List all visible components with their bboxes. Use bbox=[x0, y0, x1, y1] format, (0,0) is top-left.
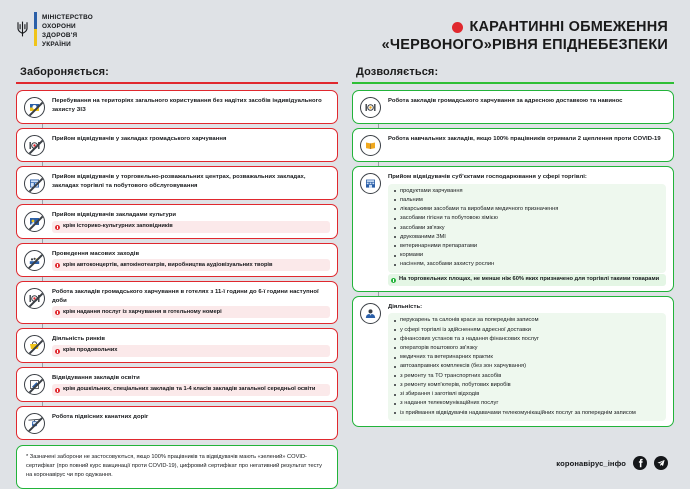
list-item-exception-text: крім надання послуг із харчування в готе… bbox=[63, 308, 222, 317]
culture-museum-prohibited-icon bbox=[24, 211, 45, 232]
list-item-title: Робота закладів громадського харчування … bbox=[52, 288, 330, 305]
bullet-item: лікарськими засобами та виробами медично… bbox=[394, 205, 661, 214]
telegram-icon[interactable] bbox=[654, 456, 668, 470]
bullet-item: операторів поштового зв'язку bbox=[394, 344, 661, 353]
list-item-exception-text: крім автоконцертів, автокінотеатрів, вир… bbox=[63, 261, 273, 270]
allowed-heading: Дозволяється: bbox=[352, 66, 674, 78]
market-prohibited-icon bbox=[24, 335, 45, 356]
bullet-item: засобами зв'язку bbox=[394, 224, 661, 233]
allowed-list: Робота закладів громадського харчування … bbox=[352, 90, 674, 427]
list-item-bullets: продуктами харчування пальним лікарським… bbox=[388, 184, 666, 273]
ministry-logo-line-1: МІНІСТЕРСТВО bbox=[42, 13, 93, 22]
page-title: КАРАНТИННІ ОБМЕЖЕННЯ «ЧЕРВОНОГО»РІВНЯ ЕП… bbox=[382, 12, 668, 54]
list-item-exception: крім дошкільних, спеціальних закладів та… bbox=[52, 384, 330, 396]
list-item-title: Прийом відвідувачів у закладах громадськ… bbox=[52, 135, 330, 144]
exception-dot-icon bbox=[55, 388, 60, 393]
bullet-item: кормами bbox=[394, 251, 661, 260]
bullet-item: друкованими ЗМІ bbox=[394, 233, 661, 242]
list-item-title: Прийом відвідувачів закладами культури bbox=[52, 211, 330, 220]
person-no-mask-prohibited-icon bbox=[24, 97, 45, 118]
bullet-item: зі збирання і заготівлі відходів bbox=[394, 390, 661, 399]
list-item[interactable]: Робота навчальних закладів, якщо 100% пр… bbox=[352, 128, 674, 162]
list-item-exception-text: крім історико-культурних заповідників bbox=[63, 222, 173, 231]
list-item[interactable]: Робота підвісних канатних доріг bbox=[16, 406, 338, 440]
prohibited-heading-rule bbox=[16, 82, 338, 84]
ministry-of-health-logo: МІНІСТЕРСТВО ОХОРОНИ ЗДОРОВ'Я УКРАЇНИ bbox=[16, 12, 93, 49]
exception-dot-icon bbox=[391, 278, 396, 283]
bullet-item: пальним bbox=[394, 196, 661, 205]
prohibited-list: Перебування на територіях загального кор… bbox=[16, 90, 338, 440]
exception-dot-icon bbox=[55, 225, 60, 230]
ministry-logo-line-2: ОХОРОНИ bbox=[42, 22, 93, 31]
list-item[interactable]: Робота закладів громадського харчування … bbox=[352, 90, 674, 124]
bullet-item: ветеринарними препаратами bbox=[394, 242, 661, 251]
ministry-logo-line-4: УКРАЇНИ bbox=[42, 40, 93, 49]
bullet-item: фінансових установ та з надання фінансов… bbox=[394, 335, 661, 344]
shopping-mall-prohibited-icon bbox=[24, 173, 45, 194]
list-item-exception: крім продовольчих bbox=[52, 345, 330, 357]
exception-dot-icon bbox=[55, 310, 60, 315]
bullet-item: продуктами харчування bbox=[394, 187, 661, 196]
bullet-item: із приймання відвідувачів надавачами тел… bbox=[394, 409, 661, 418]
list-item[interactable]: Діяльність ринків крім продовольчих bbox=[16, 328, 338, 363]
hotel-catering-prohibited-icon bbox=[24, 288, 45, 309]
retail-store-icon bbox=[360, 173, 381, 194]
ministry-logo-text: МІНІСТЕРСТВО ОХОРОНИ ЗДОРОВ'Я УКРАЇНИ bbox=[42, 12, 93, 49]
list-item[interactable]: Проведення масових заходів крім автоконц… bbox=[16, 243, 338, 278]
food-delivery-icon bbox=[360, 97, 381, 118]
list-item-exception-text: крім дошкільних, спеціальних закладів та… bbox=[63, 385, 315, 394]
bullet-item: перукарень та салонів краси за попередні… bbox=[394, 316, 661, 325]
bullet-item: у сфері торгівлі із здійсненням адресної… bbox=[394, 326, 661, 335]
bullet-item: насінням, засобами захисту рослин bbox=[394, 260, 661, 269]
prohibited-footnote-text: * Зазначені заборони не застосовуються, … bbox=[26, 453, 328, 481]
allowed-heading-rule bbox=[352, 82, 674, 84]
facebook-icon[interactable] bbox=[633, 456, 647, 470]
ukraine-trident-icon bbox=[16, 12, 29, 46]
education-prohibited-icon bbox=[24, 374, 45, 395]
list-item-title: Проведення масових заходів bbox=[52, 250, 330, 259]
list-item-exception: крім автоконцертів, автокінотеатрів, вир… bbox=[52, 259, 330, 271]
list-item-title: Прийом відвідувачів у торговельно-розваж… bbox=[52, 173, 330, 190]
list-item[interactable]: Діяльність: перукарень та салонів краси … bbox=[352, 296, 674, 427]
prohibited-column: Забороняється: Перебування на територіях… bbox=[16, 66, 338, 489]
bullet-item: автозаправних комплексів (без зон харчув… bbox=[394, 362, 661, 371]
list-item-title: Відвідування закладів освіти bbox=[52, 374, 330, 383]
list-item-title: Перебування на територіях загального кор… bbox=[52, 97, 330, 114]
bullet-item: медичних та ветеринарних практик bbox=[394, 353, 661, 362]
list-item-exception-text: На торговельних площах, не менше ніж 60%… bbox=[399, 275, 659, 284]
page-title-line-1: КАРАНТИННІ ОБМЕЖЕННЯ bbox=[469, 18, 668, 36]
page-title-line-2: «ЧЕРВОНОГО»РІВНЯ ЕПІДНЕБЕЗПЕКИ bbox=[382, 36, 668, 54]
social-links: коронавірус_інфо bbox=[556, 456, 668, 470]
prohibited-footnote: * Зазначені заборони не застосовуються, … bbox=[16, 445, 338, 489]
list-item-title: Діяльність ринків bbox=[52, 335, 330, 344]
bullet-item: з ремонту та ТО транспортних засобів bbox=[394, 372, 661, 381]
list-item[interactable]: Прийом відвідувачів у торговельно-розваж… bbox=[16, 166, 338, 200]
flag-bars bbox=[34, 12, 37, 46]
mass-event-prohibited-icon bbox=[24, 250, 45, 271]
exception-dot-icon bbox=[55, 263, 60, 268]
allowed-column: Дозволяється: Робота закладів громадсько… bbox=[352, 66, 674, 489]
page-header: МІНІСТЕРСТВО ОХОРОНИ ЗДОРОВ'Я УКРАЇНИ КА… bbox=[0, 0, 690, 62]
list-item[interactable]: Прийом відвідувачів суб'єктами господарю… bbox=[352, 166, 674, 292]
list-item-exception: крім історико-культурних заповідників bbox=[52, 221, 330, 233]
list-item-title: Робота підвісних канатних доріг bbox=[52, 413, 330, 422]
list-item-exception-text: крім продовольчих bbox=[63, 346, 117, 355]
cable-car-prohibited-icon bbox=[24, 413, 45, 434]
restaurant-prohibited-icon bbox=[24, 135, 45, 156]
list-item-bullets: перукарень та салонів краси за попередні… bbox=[388, 313, 666, 421]
list-item-title: Діяльність: bbox=[388, 303, 666, 312]
list-item-title: Прийом відвідувачів суб'єктами господарю… bbox=[388, 173, 666, 182]
social-handle-label: коронавірус_інфо bbox=[556, 459, 626, 468]
red-level-dot-icon bbox=[452, 22, 463, 33]
prohibited-heading: Забороняється: bbox=[16, 66, 338, 78]
open-book-icon bbox=[360, 135, 381, 156]
list-item-title: Робота закладів громадського харчування … bbox=[388, 97, 666, 106]
list-item-exception: крім надання послуг із харчування в готе… bbox=[52, 306, 330, 318]
list-item[interactable]: Робота закладів громадського харчування … bbox=[16, 281, 338, 324]
bullet-item: засобами гігієни та побутовою хімією bbox=[394, 214, 661, 223]
worker-person-icon bbox=[360, 303, 381, 324]
bullet-item: з надання телекомунікаційних послуг bbox=[394, 399, 661, 408]
exception-dot-icon bbox=[55, 349, 60, 354]
bullet-item: з ремонту комп'ютерів, побутових виробів bbox=[394, 381, 661, 390]
list-item[interactable]: Прийом відвідувачів у закладах громадськ… bbox=[16, 128, 338, 162]
list-item-exception: На торговельних площах, не менше ніж 60%… bbox=[388, 274, 666, 286]
list-item-title: Робота навчальних закладів, якщо 100% пр… bbox=[388, 135, 666, 144]
list-item[interactable]: Перебування на територіях загального кор… bbox=[16, 90, 338, 124]
content-columns: Забороняється: Перебування на територіях… bbox=[0, 62, 690, 489]
list-item[interactable]: Відвідування закладів освіти крім дошкіл… bbox=[16, 367, 338, 402]
ministry-logo-line-3: ЗДОРОВ'Я bbox=[42, 31, 93, 40]
list-item[interactable]: Прийом відвідувачів закладами культури к… bbox=[16, 204, 338, 239]
